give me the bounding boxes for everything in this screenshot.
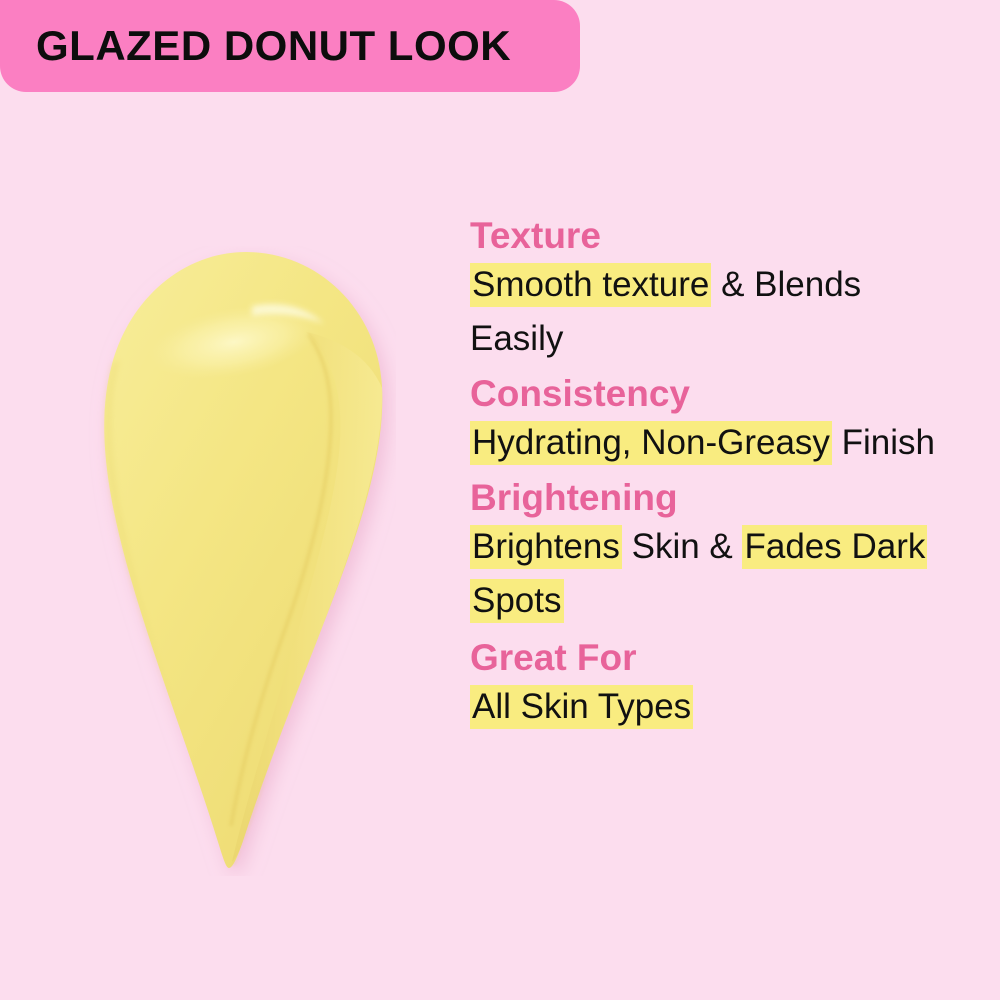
feature-heading-row: Consistency xyxy=(470,372,1000,416)
feature-heading-brightening: Brightening xyxy=(470,476,678,520)
feature-list: Texture Smooth texture & Blends Easily C… xyxy=(470,214,1000,738)
highlight-phrase: Smooth texture xyxy=(470,263,711,307)
highlight-phrase: Brightens xyxy=(470,525,622,569)
heading-rule xyxy=(639,668,1000,671)
feature-block-great-for: Great For All Skin Types xyxy=(470,636,1000,734)
banner: GLAZED DONUT LOOK xyxy=(0,0,580,92)
product-swatch xyxy=(86,246,396,876)
poster-canvas: GLAZED DONUT LOOK xyxy=(0,0,1000,1000)
feature-heading-row: Brightening xyxy=(470,476,1000,520)
page-title: GLAZED DONUT LOOK xyxy=(36,25,511,67)
feature-block-consistency: Consistency Hydrating, Non-Greasy Finish xyxy=(470,372,1000,470)
feature-heading-great-for: Great For xyxy=(470,636,637,680)
feature-block-texture: Texture Smooth texture & Blends Easily xyxy=(470,214,1000,366)
heading-rule xyxy=(603,246,1000,249)
feature-heading-row: Great For xyxy=(470,636,1000,680)
highlight-phrase: All Skin Types xyxy=(470,685,693,729)
feature-heading-consistency: Consistency xyxy=(470,372,690,416)
cream-swatch-icon xyxy=(86,246,396,876)
feature-description-brightening: Brightens Skin & Fades Dark Spots xyxy=(470,520,950,628)
plain-phrase: Finish xyxy=(832,423,935,462)
heading-rule xyxy=(680,508,1000,511)
feature-description-great-for: All Skin Types xyxy=(470,680,950,734)
heading-rule xyxy=(692,404,1000,407)
feature-heading-texture: Texture xyxy=(470,214,601,258)
feature-block-brightening: Brightening Brightens Skin & Fades Dark … xyxy=(470,476,1000,628)
plain-phrase: Skin & xyxy=(622,527,743,566)
feature-description-texture: Smooth texture & Blends Easily xyxy=(470,258,950,366)
feature-description-consistency: Hydrating, Non-Greasy Finish xyxy=(470,416,950,470)
highlight-phrase: Hydrating, Non-Greasy xyxy=(470,421,832,465)
feature-heading-row: Texture xyxy=(470,214,1000,258)
